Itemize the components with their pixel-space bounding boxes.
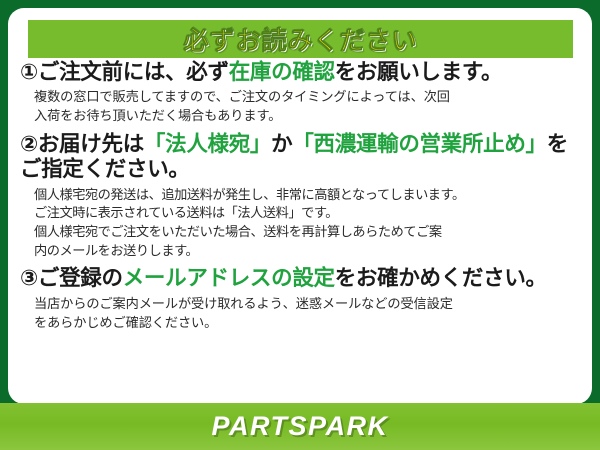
item-3-emphasis: メールアドレスの設定 — [123, 266, 335, 290]
item-1-headline: ①ご注文前には、必ず在庫の確認をお願いします。 — [20, 60, 582, 85]
brand-logo: PARTSPARK — [211, 411, 388, 442]
item-3-subtext: 当店からのご案内メールが受け取れるよう、迷惑メールなどの受信設定 をあらかじめご… — [34, 295, 582, 332]
notice-item-1: ①ご注文前には、必ず在庫の確認をお願いします。 複数の窓口で販売してますので、ご… — [8, 60, 592, 126]
item-3-headline: ③ご登録のメールアドレスの設定をお確かめください。 — [20, 266, 582, 291]
item-1-subtext: 複数の窓口で販売してますので、ご注文のタイミングによっては、次回 入荷をお待ち頂… — [34, 88, 582, 125]
item-1-text-a: ご注文前には、必ず — [38, 60, 229, 84]
item-1-text-b: をお願いします。 — [335, 60, 502, 84]
poster-title: 必ずお読みください — [183, 21, 417, 57]
item-2-emphasis-2: 「西濃運輸の営業所止め」 — [292, 132, 546, 156]
item-1-marker: ① — [20, 60, 38, 84]
footer-bar: PARTSPARK — [0, 403, 600, 450]
item-1-emphasis: 在庫の確認 — [229, 60, 335, 84]
notice-poster: 必ずお読みください ①ご注文前には、必ず在庫の確認をお願いします。 複数の窓口で… — [0, 0, 600, 450]
item-2-marker: ② — [20, 132, 38, 156]
item-2-subtext: 個人様宅宛の発送は、追加送料が発生し、非常に高額となってしまいます。 ご注文時に… — [34, 186, 582, 261]
item-2-text-b: か — [271, 132, 292, 156]
notice-items: ①ご注文前には、必ず在庫の確認をお願いします。 複数の窓口で販売してますので、ご… — [8, 60, 592, 332]
item-2-headline: ②お届け先は「法人様宛」か「西濃運輸の営業所止め」をご指定ください。 — [20, 132, 582, 183]
notice-item-3: ③ご登録のメールアドレスの設定をお確かめください。 当店からのご案内メールが受け… — [8, 266, 592, 332]
item-2-text-a: お届け先は — [38, 132, 144, 156]
notice-item-2: ②お届け先は「法人様宛」か「西濃運輸の営業所止め」をご指定ください。 個人様宅宛… — [8, 132, 592, 261]
item-3-marker: ③ — [20, 266, 38, 290]
item-3-text-a: ご登録の — [38, 266, 123, 290]
item-3-text-b: をお確かめください。 — [335, 266, 547, 290]
item-2-emphasis-1: 「法人様宛」 — [144, 132, 271, 156]
notice-card: 必ずお読みください ①ご注文前には、必ず在庫の確認をお願いします。 複数の窓口で… — [8, 8, 592, 404]
title-bar: 必ずお読みください — [28, 20, 573, 58]
